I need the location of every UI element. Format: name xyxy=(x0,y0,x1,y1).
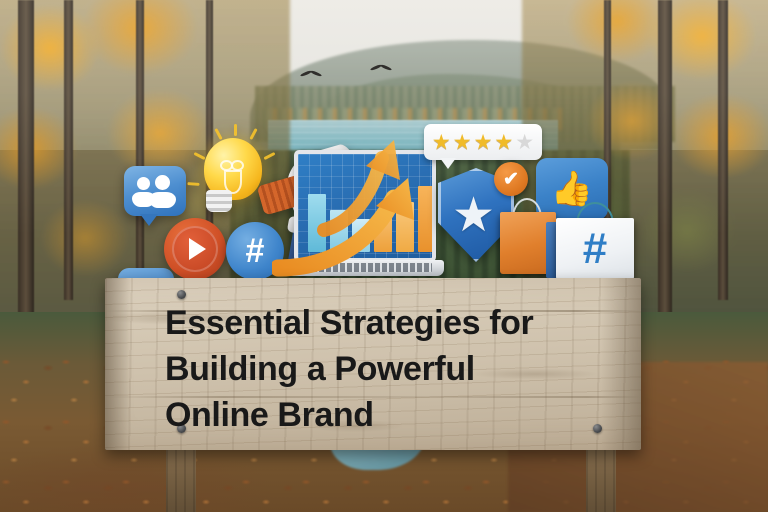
trail-sign: Essential Strategies for Building a Powe… xyxy=(0,0,768,512)
headline-line-2: Building a Powerful xyxy=(165,346,585,392)
board-shade-right xyxy=(601,278,641,450)
hero-banner: # xyxy=(0,0,768,512)
nail-head xyxy=(177,290,186,299)
board-shade-left xyxy=(105,278,131,450)
nail-head xyxy=(593,424,602,433)
headline-line-1: Essential Strategies for xyxy=(165,300,585,346)
page-title: Essential Strategies for Building a Powe… xyxy=(165,300,585,438)
headline-line-3: Online Brand xyxy=(165,392,585,438)
